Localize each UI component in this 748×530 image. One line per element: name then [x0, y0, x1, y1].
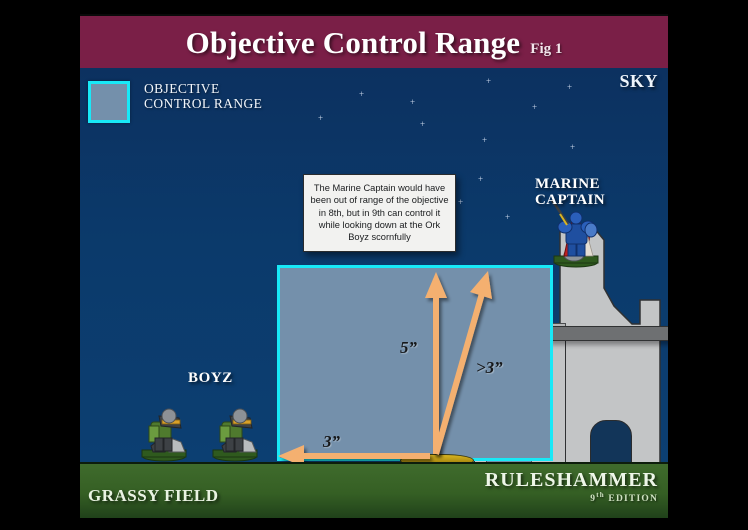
building-window-out-of-range [590, 420, 632, 464]
measurement-label-over-3in: >3” [476, 358, 503, 378]
brand-edition-word: EDITION [608, 494, 658, 504]
page-title: Objective Control Range [186, 25, 521, 61]
marine-captain-label-line1: MARINE [535, 176, 605, 192]
scene-ground: GRASSY FIELD RULESHAMMER 9th EDITION [80, 462, 668, 518]
star-icon: + [486, 77, 491, 86]
star-icon: + [567, 83, 572, 92]
marine-captain-model [546, 198, 606, 268]
objective-control-range-box [277, 265, 553, 461]
legend-swatch-objective-control-range [88, 81, 130, 123]
branding: RULESHAMMER 9th EDITION [485, 469, 658, 504]
measurement-label-5in: 5” [400, 338, 417, 358]
measurement-label-3in: 3” [323, 432, 340, 452]
star-icon: + [478, 175, 483, 184]
star-icon: + [482, 136, 487, 145]
ork-boy-model [206, 394, 264, 462]
sky-label: SKY [619, 71, 658, 92]
marine-captain-label: MARINE CAPTAIN [535, 176, 605, 208]
legend-label: OBJECTIVE CONTROL RANGE [144, 81, 262, 111]
legend: OBJECTIVE CONTROL RANGE [88, 81, 262, 123]
brand-edition: 9th EDITION [485, 491, 658, 504]
ork-boyz-label: BOYZ [188, 370, 233, 387]
star-icon: + [458, 198, 463, 207]
star-icon: + [570, 143, 575, 152]
star-icon: + [420, 120, 425, 129]
brand-edition-suffix: th [596, 491, 605, 499]
star-icon: + [532, 103, 537, 112]
marine-captain-label-line2: CAPTAIN [535, 192, 605, 208]
star-icon: + [318, 114, 323, 123]
scene-sky: + + + + + + + + + + + + SKY OBJECTIVE CO… [80, 68, 668, 464]
figure-number-label: Fig 1 [530, 41, 562, 58]
brand-name: RULESHAMMER [485, 469, 658, 492]
building-ledge [547, 326, 668, 341]
star-icon: + [505, 213, 510, 222]
legend-label-line1: OBJECTIVE [144, 81, 262, 96]
title-bar: Objective Control Range Fig 1 [80, 14, 668, 73]
legend-label-line2: CONTROL RANGE [144, 96, 262, 111]
ork-boy-model [135, 394, 193, 462]
star-icon: + [359, 90, 364, 99]
star-icon: + [410, 98, 415, 107]
callout-box: The Marine Captain would have been out o… [303, 174, 456, 252]
figure-frame: Objective Control Range Fig 1 + + + + + … [0, 0, 748, 530]
grassy-field-label: GRASSY FIELD [88, 486, 219, 506]
